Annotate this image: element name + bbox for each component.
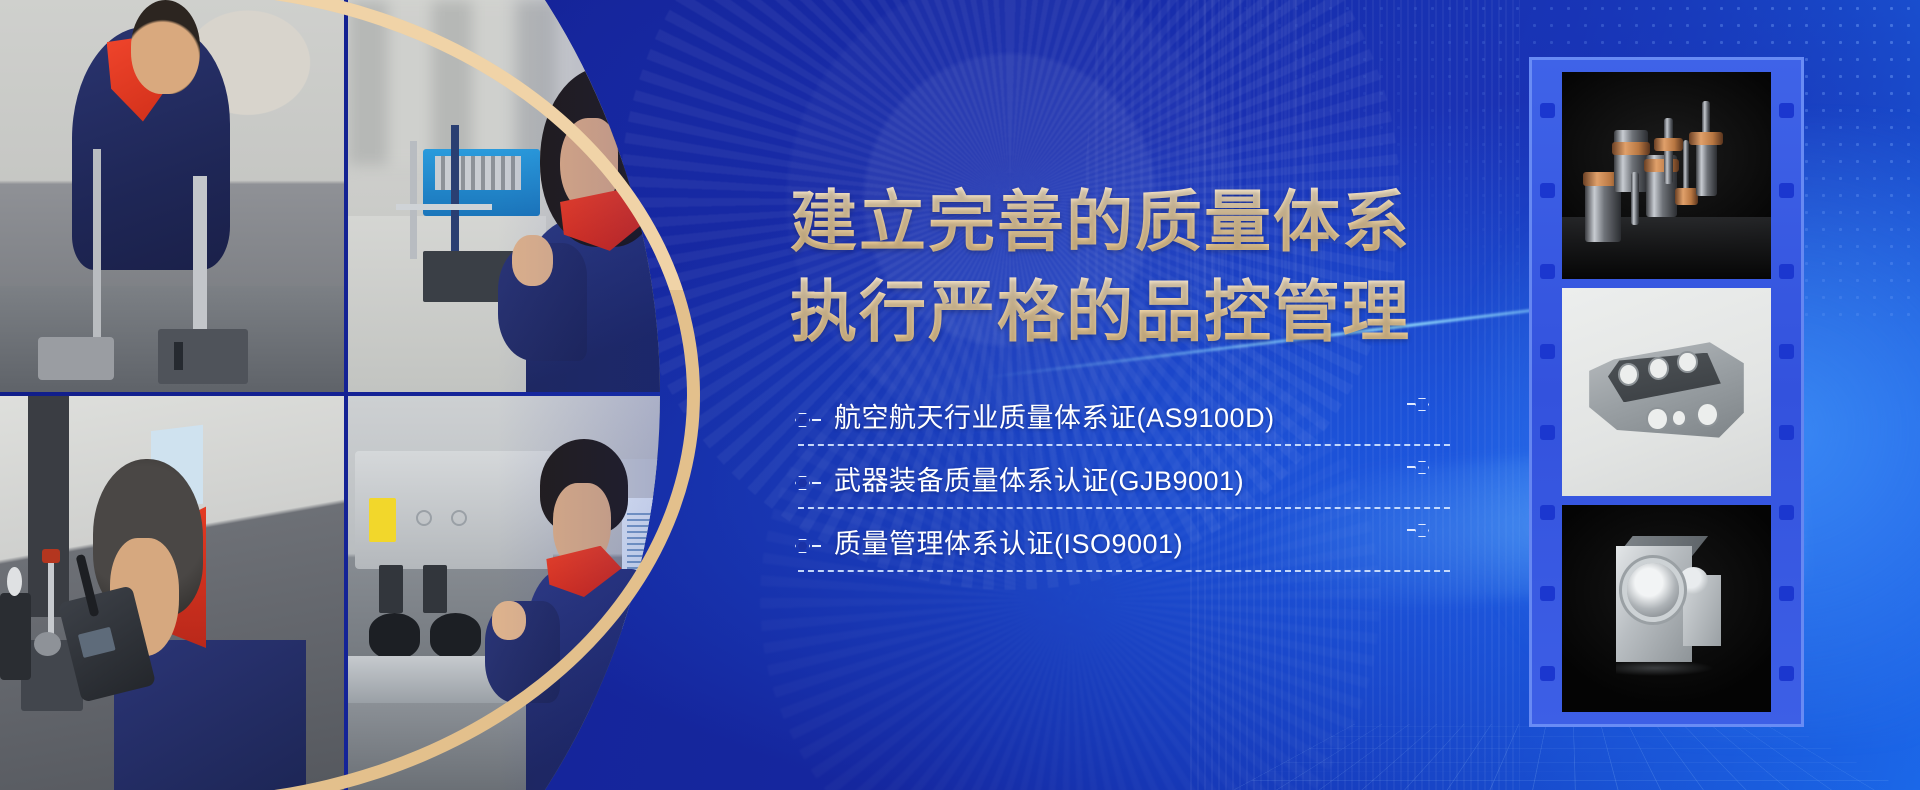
certification-label: 武器装备质量体系认证(GJB9001) xyxy=(834,463,1244,499)
certification-label: 航空航天行业质量体系证(AS9100D) xyxy=(834,400,1275,436)
certification-list: 航空航天行业质量体系证(AS9100D) 武器装备质量体系认证(GJB9001)… xyxy=(795,400,1450,589)
dashed-divider xyxy=(798,507,1450,509)
filmstrip-perforations-left xyxy=(1534,60,1560,724)
hexagon-dash-icon xyxy=(795,538,821,554)
filmstrip-perforations-right xyxy=(1773,60,1799,724)
certification-item: 航空航天行业质量体系证(AS9100D) xyxy=(795,400,1450,463)
certification-item: 质量管理体系认证(ISO9001) xyxy=(795,526,1450,589)
hexagon-marker-right-icon xyxy=(1407,461,1433,477)
dashed-divider xyxy=(798,444,1450,446)
certification-item: 武器装备质量体系认证(GJB9001) xyxy=(795,463,1450,526)
product-photo-machined-housing xyxy=(1562,288,1771,495)
headline-line-1: 建立完善的质量体系 xyxy=(790,178,1450,268)
certification-label: 质量管理体系认证(ISO9001) xyxy=(834,526,1183,562)
headline-line-2: 执行严格的品控管理 xyxy=(790,268,1450,358)
product-photo-bearing-block xyxy=(1562,505,1771,712)
product-photo-bushings xyxy=(1562,72,1771,279)
dashed-divider xyxy=(798,570,1450,572)
product-filmstrip xyxy=(1529,57,1804,727)
hexagon-marker-right-icon xyxy=(1407,524,1433,540)
hexagon-dash-icon xyxy=(795,475,821,491)
quality-system-banner: 建立完善的质量体系 执行严格的品控管理 航空航天行业质量体系证(AS9100D)… xyxy=(0,0,1920,790)
headline: 建立完善的质量体系 执行严格的品控管理 xyxy=(790,178,1450,359)
hexagon-marker-right-icon xyxy=(1407,398,1433,414)
hexagon-dash-icon xyxy=(795,412,821,428)
